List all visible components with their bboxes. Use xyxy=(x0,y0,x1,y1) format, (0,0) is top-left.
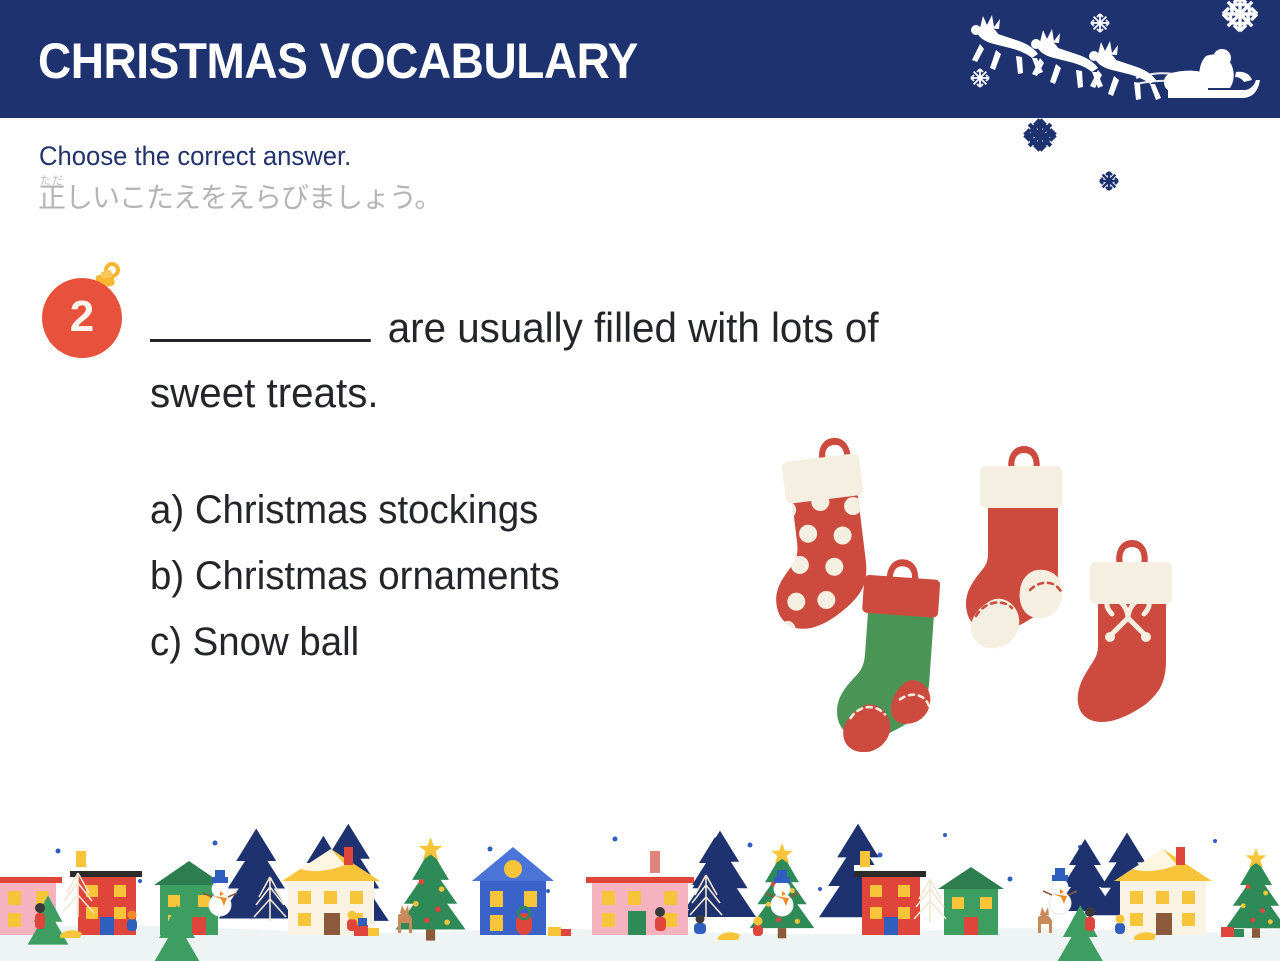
answer-blank[interactable] xyxy=(150,314,371,342)
option-c[interactable]: c) Snow ball xyxy=(150,609,745,675)
page-title: CHRISTMAS VOCABULARY xyxy=(38,32,638,90)
furigana-text: ただ xyxy=(40,172,64,188)
christmas-stockings-illustration xyxy=(752,432,1202,752)
house-blue xyxy=(472,847,554,935)
answer-options: a) Christmas stockings b) Christmas orna… xyxy=(150,477,770,675)
stocking-red-cream-toe xyxy=(966,446,1062,648)
header-band: CHRISTMAS VOCABULARY xyxy=(0,0,1280,118)
instruction-japanese: 正しいこたえをえらびましょう。 xyxy=(38,175,441,212)
question-text: are usually filled with lots of sweet tr… xyxy=(150,295,908,425)
house-green-2 xyxy=(938,867,1004,935)
house-pink xyxy=(586,851,694,935)
question-number: 2 xyxy=(42,278,122,358)
stocking-red-bow xyxy=(1078,540,1172,722)
house-red-2 xyxy=(854,851,926,935)
stocking-polka-dot-red xyxy=(752,435,880,640)
instruction-english: Choose the correct answer. xyxy=(39,141,351,172)
option-a[interactable]: a) Christmas stockings xyxy=(150,477,745,543)
question-number-badge: 2 xyxy=(42,278,122,358)
christmas-village-scene xyxy=(0,821,1280,961)
option-b[interactable]: b) Christmas ornaments xyxy=(150,543,745,609)
instruction-japanese-wrapper: ただ 正しいこたえをえらびましょう。 xyxy=(38,175,441,212)
worksheet-page: CHRISTMAS VOCABULARY xyxy=(0,0,1280,961)
